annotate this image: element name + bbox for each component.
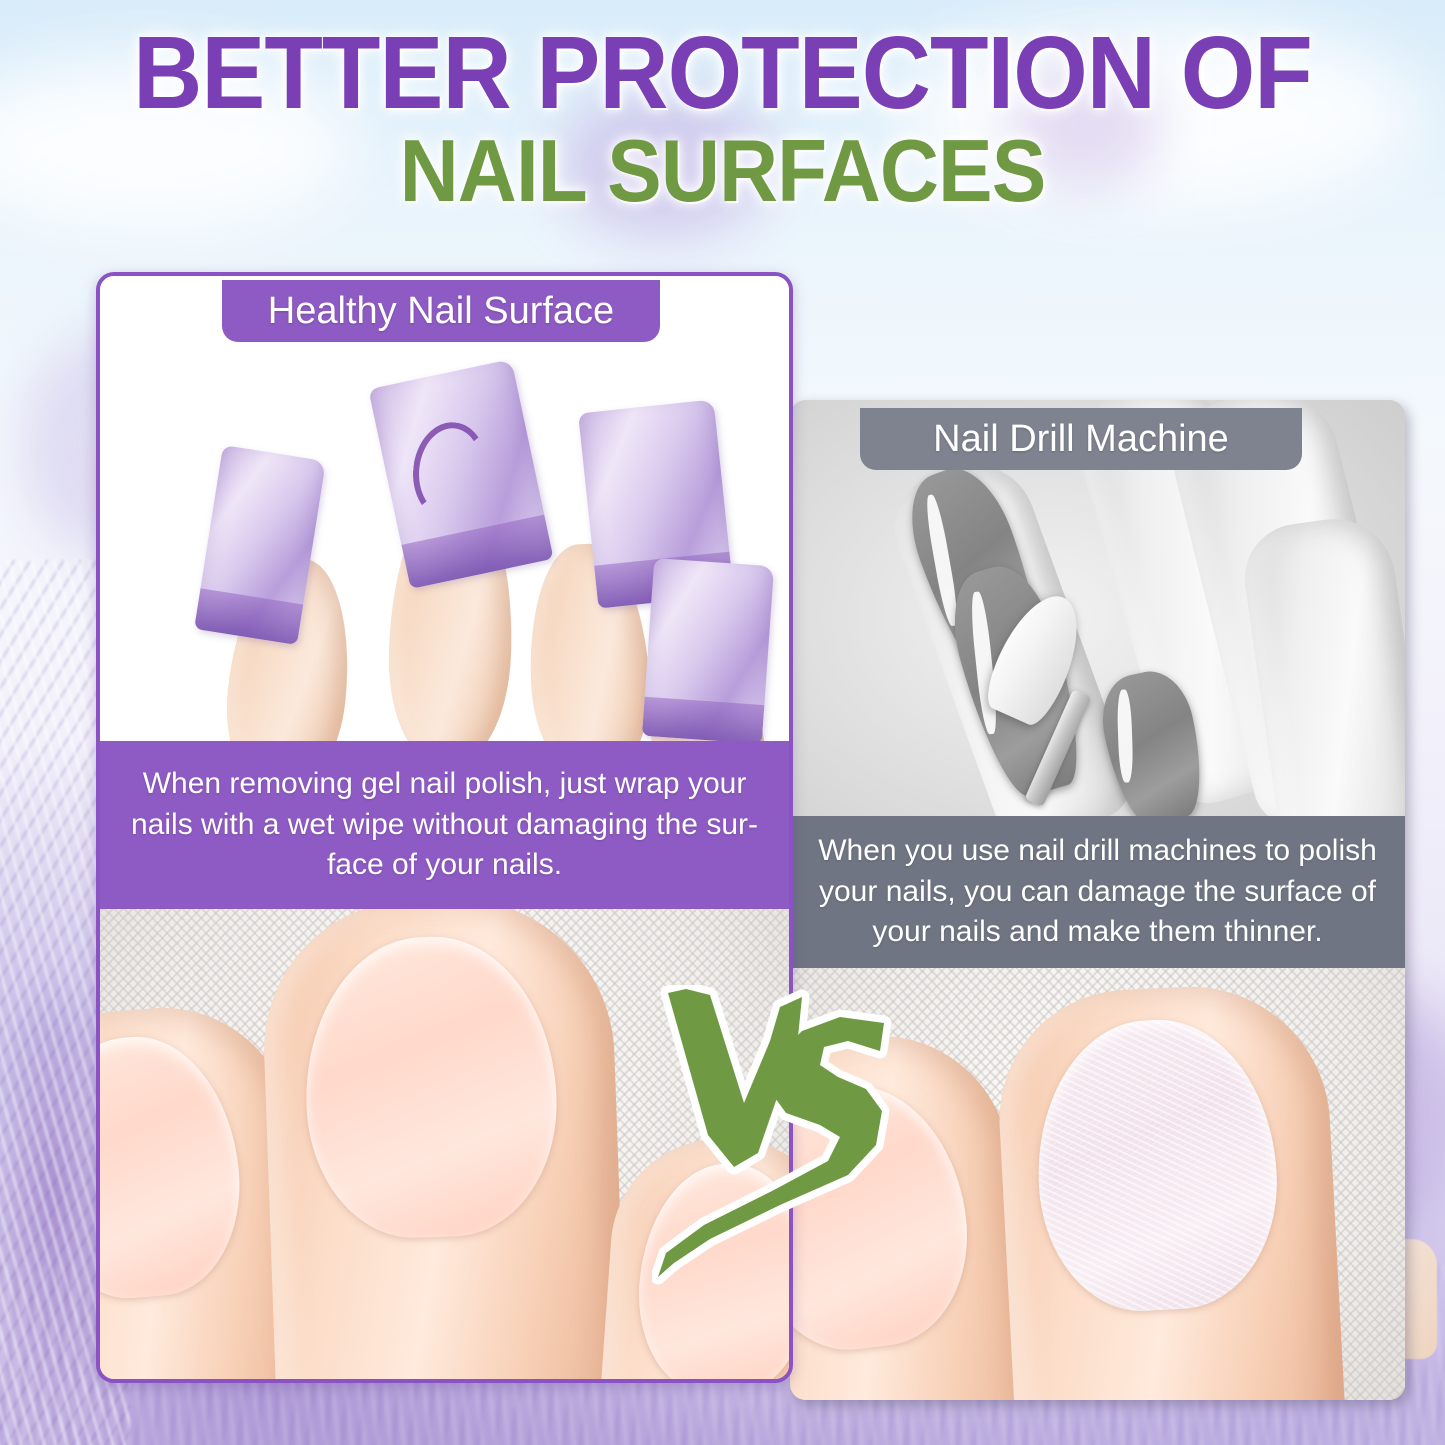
nail-wipes-photo [100, 276, 789, 741]
infographic-canvas: BETTER PROTECTION OF NAIL SURFACES When … [0, 0, 1445, 1445]
wipe-wrapper-4 [642, 558, 774, 741]
page-title: BETTER PROTECTION OF NAIL SURFACES [0, 24, 1445, 215]
wipe-logo-mark [408, 419, 492, 524]
healthy-nail-surface-badge: Healthy Nail Surface [222, 280, 660, 342]
headline-line-1: BETTER PROTECTION OF [51, 24, 1395, 123]
nail-drill-caption: When you use nail drill machines to poli… [790, 816, 1405, 968]
healthy-nail-caption: When removing gel nail polish, just wrap… [100, 741, 789, 909]
wipe-wrapper-2 [368, 359, 553, 589]
versus-divider: VS [652, 985, 897, 1285]
nail-drill-machine-badge: Nail Drill Machine [860, 408, 1302, 470]
headline-line-2: NAIL SURFACES [51, 127, 1395, 215]
